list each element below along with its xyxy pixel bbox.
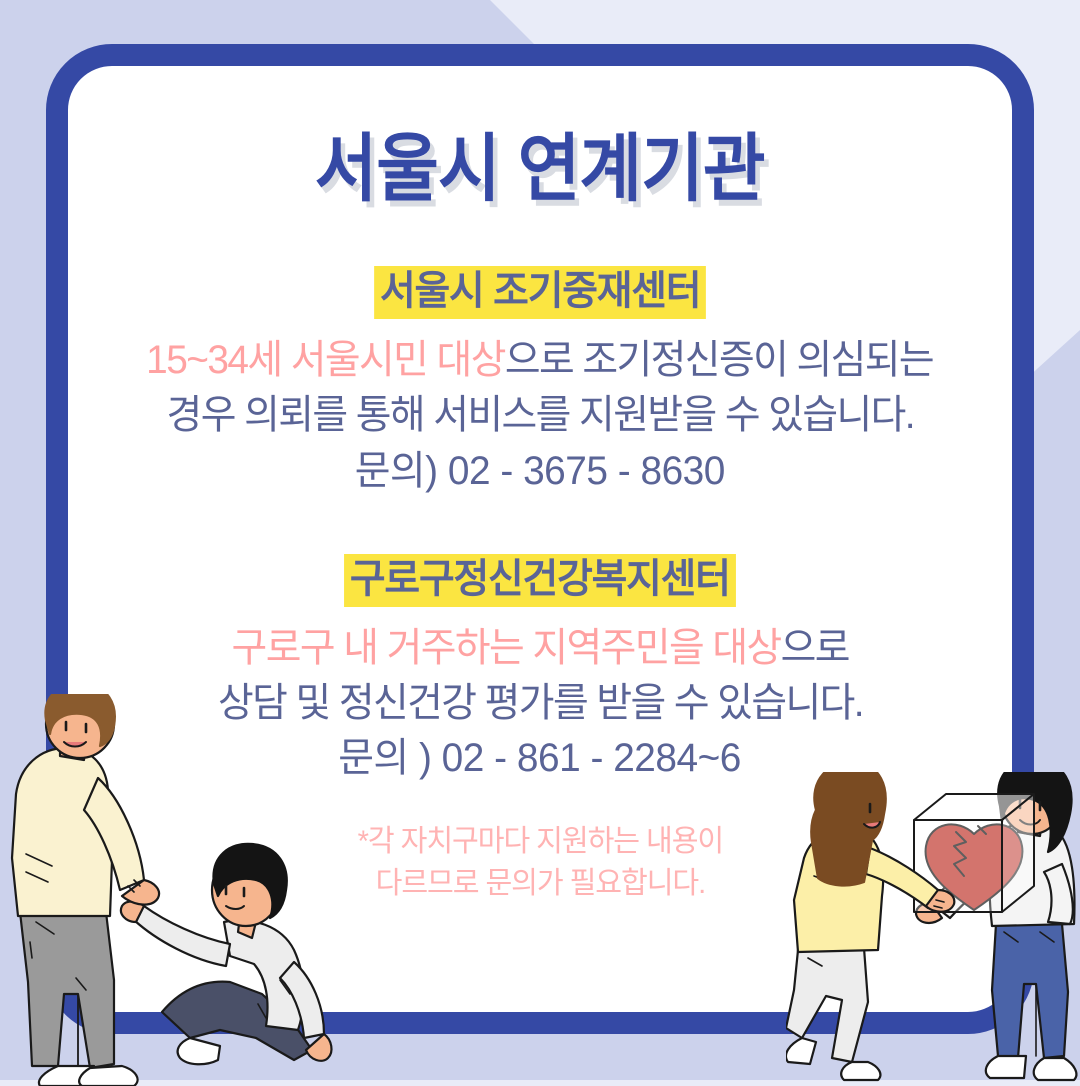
left-woman-shoe [786,1038,816,1064]
left-woman-shoe [841,1062,880,1080]
two-women-carrying-broken-heart-box-illustration [786,772,1080,1084]
right-woman-shoe [986,1056,1026,1078]
sitting-person-arm [134,906,230,966]
standing-person-sweater [12,748,112,916]
sitting-person-hand [306,1034,331,1061]
standing-person-pants [20,912,114,1068]
standing-person-shoe [79,1066,137,1086]
two-people-helping-up-illustration [0,694,366,1086]
sitting-person-shoe [178,1038,220,1064]
right-woman-jeans [992,924,1068,1058]
right-woman-shoe [1034,1058,1077,1080]
